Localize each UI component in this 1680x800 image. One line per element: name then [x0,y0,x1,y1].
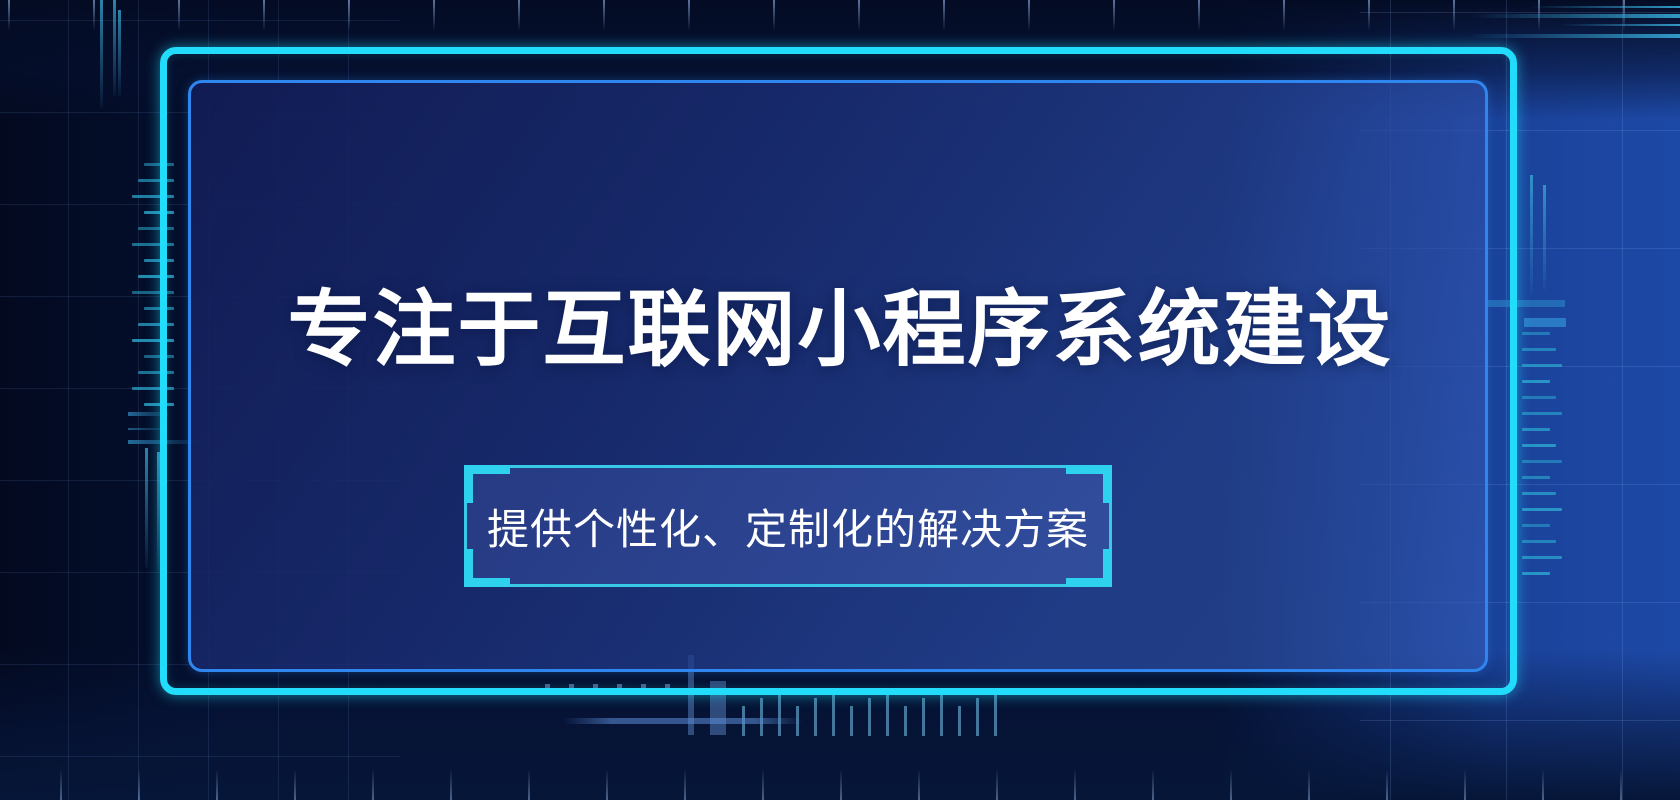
decor-vbar [118,10,121,96]
banner-canvas: 专注于互联网小程序系统建设 提供个性化、定制化的解决方案 [0,0,1680,800]
decor-vbar [100,0,103,108]
decor-vbar [145,448,148,568]
decor-hbar [1560,24,1680,26]
bottom-tick-row [0,764,1680,800]
decor-vbar [1530,175,1533,295]
decor-vbar [113,0,116,96]
decor-hbar [1530,6,1680,8]
decor-wide-line [563,718,803,724]
subtitle-box: 提供个性化、定制化的解决方案 [464,465,1112,587]
decor-vbar [1543,185,1546,290]
top-tick-row [0,0,1680,34]
page-title: 专注于互联网小程序系统建设 [0,288,1680,371]
decor-hbar [1468,34,1680,38]
decor-hbar [1470,14,1680,18]
page-subtitle: 提供个性化、定制化的解决方案 [464,465,1112,587]
tick-row-decor [742,690,1004,736]
